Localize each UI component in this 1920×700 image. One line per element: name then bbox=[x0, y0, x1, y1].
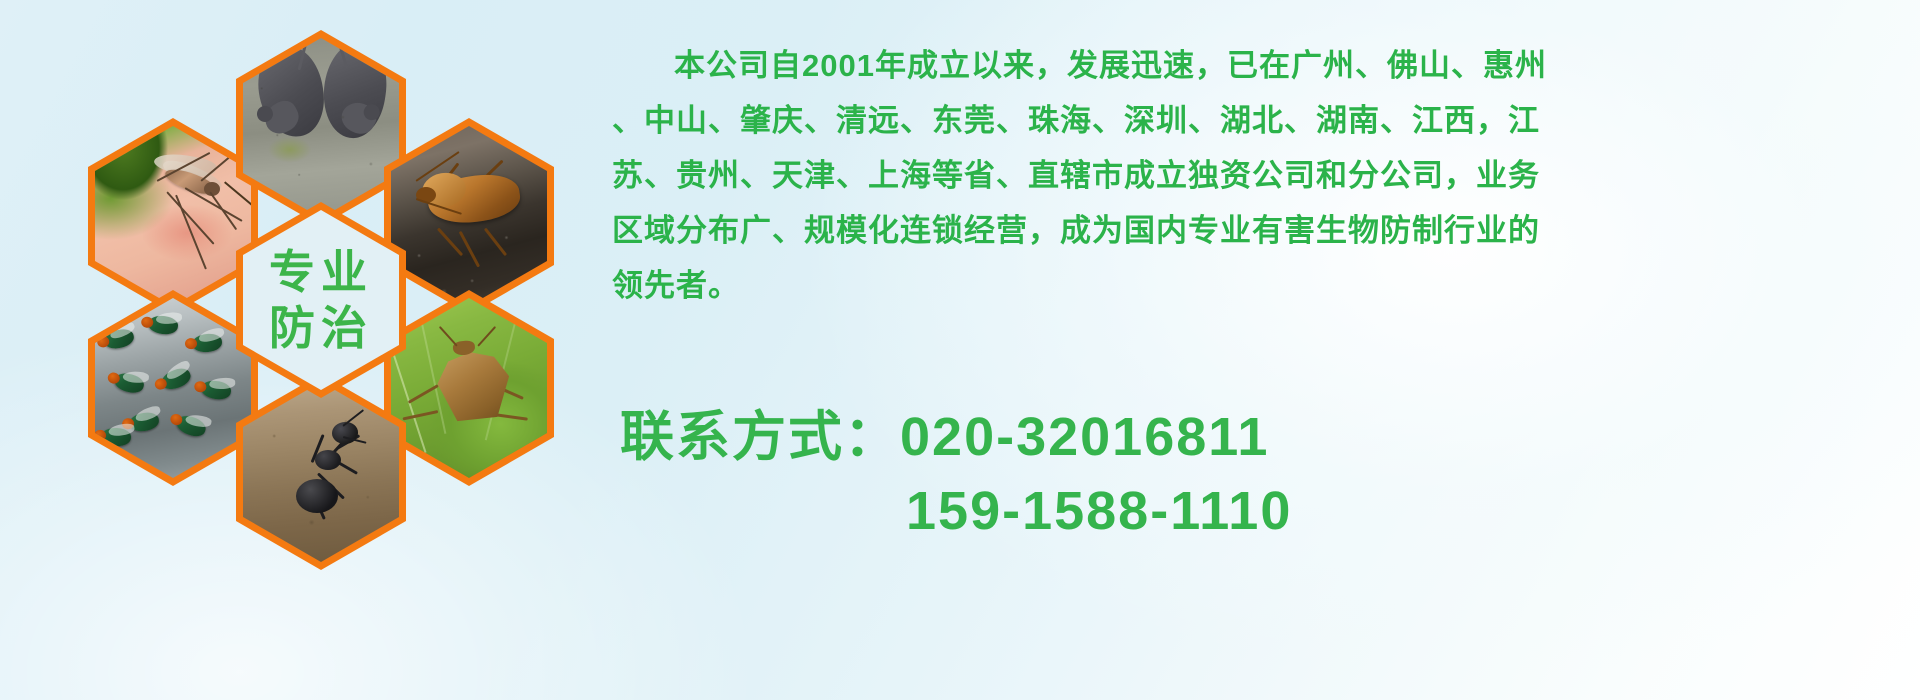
fly-icon bbox=[112, 370, 146, 396]
cockroach-leg-icon bbox=[483, 227, 506, 256]
fly-icon bbox=[101, 427, 132, 447]
hex-stink-bug-inner bbox=[391, 298, 547, 478]
hex-rats[interactable] bbox=[236, 30, 406, 226]
hex-cockroach[interactable] bbox=[384, 118, 554, 314]
stink-bug-photo bbox=[391, 298, 547, 478]
company-description: 本公司自2001年成立以来，发展迅速，已在广州、佛山、惠州 、中山、肇庆、清远、… bbox=[612, 38, 1908, 313]
cockroach-leg-icon bbox=[440, 162, 460, 186]
fly-icon bbox=[103, 327, 136, 351]
ant-antenna-icon bbox=[343, 436, 367, 444]
cockroach-leg-icon bbox=[458, 231, 479, 268]
hex-cockroach-inner bbox=[391, 126, 547, 306]
ant-leg-icon bbox=[336, 434, 360, 450]
rat-ear-icon bbox=[254, 103, 276, 125]
hex-flies-inner bbox=[95, 298, 251, 478]
hex-flies[interactable] bbox=[88, 290, 258, 486]
ant-leg-icon bbox=[333, 458, 359, 475]
rat-tail-icon bbox=[332, 38, 348, 68]
hex-ant[interactable] bbox=[236, 374, 406, 570]
mosquito-proboscis-icon bbox=[224, 182, 251, 209]
description-line: 领先者。 bbox=[612, 258, 1908, 313]
stink-bug-leg-icon bbox=[494, 413, 528, 421]
hex-logo-text: 专业 防治 bbox=[236, 202, 406, 398]
cockroach-antenna-icon bbox=[416, 198, 462, 215]
stink-bug-leg-icon bbox=[402, 410, 438, 420]
description-line: 本公司自2001年成立以来，发展迅速，已在广州、佛山、惠州 bbox=[612, 38, 1908, 93]
contact-phone-secondary[interactable]: 159-1588-1110 bbox=[620, 474, 1900, 548]
flies-photo bbox=[95, 298, 251, 478]
ant-head-icon bbox=[332, 422, 358, 444]
cockroach-head-icon bbox=[416, 187, 436, 203]
stink-bug-antenna-icon bbox=[438, 326, 457, 347]
cockroach-pronotum-icon bbox=[420, 169, 469, 210]
fly-icon bbox=[200, 378, 233, 401]
cockroach-leg-icon bbox=[437, 227, 463, 256]
rat-tail-icon bbox=[297, 38, 311, 71]
rats-photo bbox=[243, 38, 399, 218]
rat-head-icon bbox=[259, 97, 303, 139]
cockroach-antenna-icon bbox=[415, 151, 459, 182]
description-line: 区域分布广、规模化连锁经营，成为国内专业有害生物防制行业的 bbox=[612, 203, 1908, 258]
cockroach-body-icon bbox=[426, 170, 524, 228]
ant-leg-icon bbox=[320, 440, 345, 467]
description-line: 、中山、肇庆、清远、东莞、珠海、深圳、湖北、湖南、江西，江 bbox=[612, 93, 1908, 148]
ant-leg-icon bbox=[307, 484, 325, 520]
hex-mosquito[interactable] bbox=[88, 118, 258, 314]
cockroach-photo bbox=[391, 126, 547, 306]
description-line: 苏、贵州、天津、上海等省、直辖市成立独资公司和分公司，业务 bbox=[612, 148, 1908, 203]
hex-stink-bug[interactable] bbox=[384, 290, 554, 486]
cockroach-leg-icon bbox=[480, 160, 504, 183]
contact-block: 联系方式：020-32016811 159-1588-1110 bbox=[620, 400, 1900, 548]
stink-bug-antenna-icon bbox=[478, 326, 497, 347]
logo-slogan-line2: 防治 bbox=[269, 305, 373, 351]
ant-abdomen-icon bbox=[296, 479, 338, 513]
fly-icon bbox=[174, 412, 209, 440]
mosquito-photo bbox=[95, 126, 251, 306]
rat-ear-icon bbox=[361, 101, 383, 123]
ant-thorax-icon bbox=[315, 450, 341, 470]
rat-head-icon bbox=[337, 96, 381, 138]
ant-leg-icon bbox=[317, 472, 345, 499]
contact-phone-primary[interactable]: 联系方式：020-32016811 bbox=[620, 400, 1900, 474]
hex-logo-inner: 专业 防治 bbox=[243, 210, 399, 390]
hex-mosquito-inner bbox=[95, 126, 251, 306]
pest-control-banner: 专业 防治 本公司自2001年成立以来，发展迅速，已在广州、佛山、惠州 、中山、… bbox=[0, 0, 1920, 700]
fly-icon bbox=[191, 333, 222, 353]
fly-icon bbox=[147, 314, 179, 336]
rat-icon bbox=[253, 41, 329, 141]
logo-slogan: 专业 防治 bbox=[243, 210, 399, 390]
ant-antenna-icon bbox=[342, 409, 364, 427]
ant-photo bbox=[243, 382, 399, 562]
rat-icon bbox=[317, 38, 393, 142]
logo-slogan-line1: 专业 bbox=[269, 249, 373, 295]
hex-rats-inner bbox=[243, 38, 399, 218]
stink-bug-leg-icon bbox=[408, 385, 439, 405]
hex-ant-inner bbox=[243, 382, 399, 562]
honeycomb-image-cluster: 专业 防治 bbox=[88, 8, 588, 568]
fly-icon bbox=[158, 365, 192, 392]
ant-leg-icon bbox=[310, 434, 324, 463]
